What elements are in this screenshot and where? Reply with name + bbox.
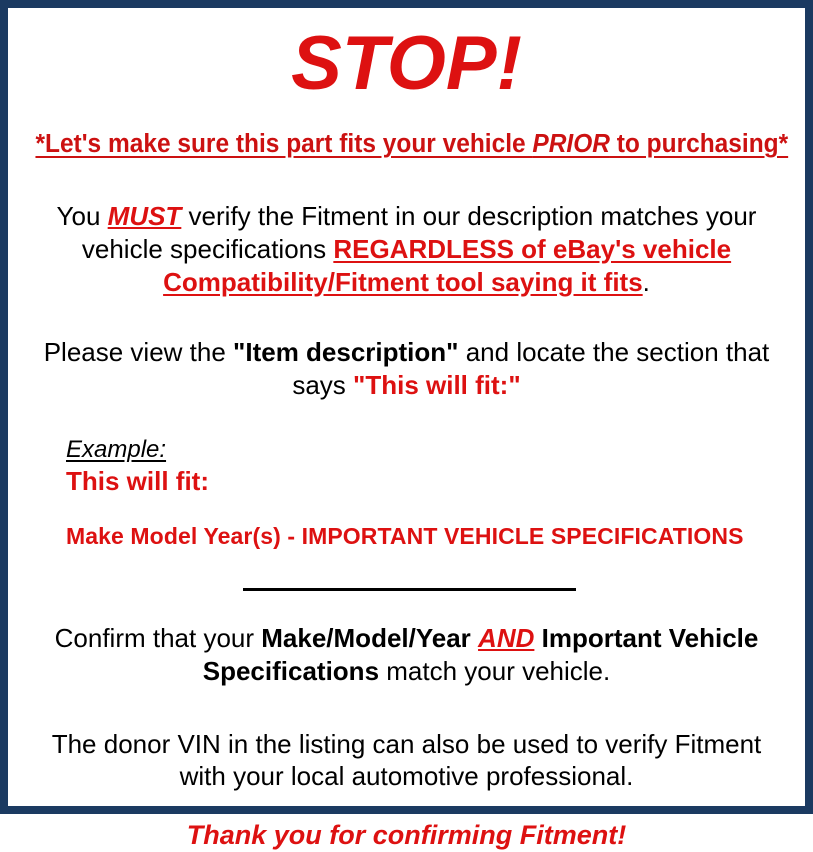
section-divider <box>243 588 576 591</box>
item-description-label: "Item description" <box>233 337 458 367</box>
divider-wrap <box>20 578 793 596</box>
fitment-notice-frame: STOP! *Let's make sure this part fits yo… <box>0 0 813 814</box>
must-seg-3: . <box>643 267 650 297</box>
must-emphasis: MUST <box>108 201 182 231</box>
example-fit-line: This will fit: <box>66 466 793 497</box>
view-seg-1: Please view the <box>44 337 233 367</box>
confirm-seg-2: match your vehicle. <box>379 656 610 686</box>
tagline: *Let's make sure this part fits your veh… <box>35 130 777 158</box>
tagline-before: *Let's make sure this part fits your veh… <box>35 130 532 158</box>
example-label-row: Example: <box>66 436 793 464</box>
must-seg-1: You <box>57 201 108 231</box>
stop-heading: STOP! <box>20 26 793 102</box>
example-spec-line: Make Model Year(s) - IMPORTANT VEHICLE S… <box>66 523 793 551</box>
must-paragraph: You MUST verify the Fitment in our descr… <box>20 200 793 298</box>
thank-you-line: Thank you for confirming Fitment! <box>20 819 793 851</box>
confirm-space-2 <box>534 623 541 653</box>
view-paragraph: Please view the "Item description" and l… <box>20 336 793 402</box>
vin-paragraph: The donor VIN in the listing can also be… <box>20 728 793 794</box>
confirm-space-1 <box>471 623 478 653</box>
notice-inner: STOP! *Let's make sure this part fits yo… <box>8 8 805 806</box>
tagline-after: to purchasing* <box>610 130 788 158</box>
tagline-prior-italic: PRIOR <box>532 130 610 158</box>
confirm-seg-1: Confirm that your <box>55 623 262 653</box>
this-will-fit-quote: "This will fit:" <box>353 370 521 400</box>
confirm-emphasis-and: AND <box>478 623 534 653</box>
example-block: Example: This will fit: Make Model Year(… <box>20 436 793 550</box>
example-label: Example: <box>66 436 166 464</box>
confirm-paragraph: Confirm that your Make/Model/Year AND Im… <box>20 622 793 688</box>
make-model-year-bold: Make/Model/Year <box>261 623 471 653</box>
